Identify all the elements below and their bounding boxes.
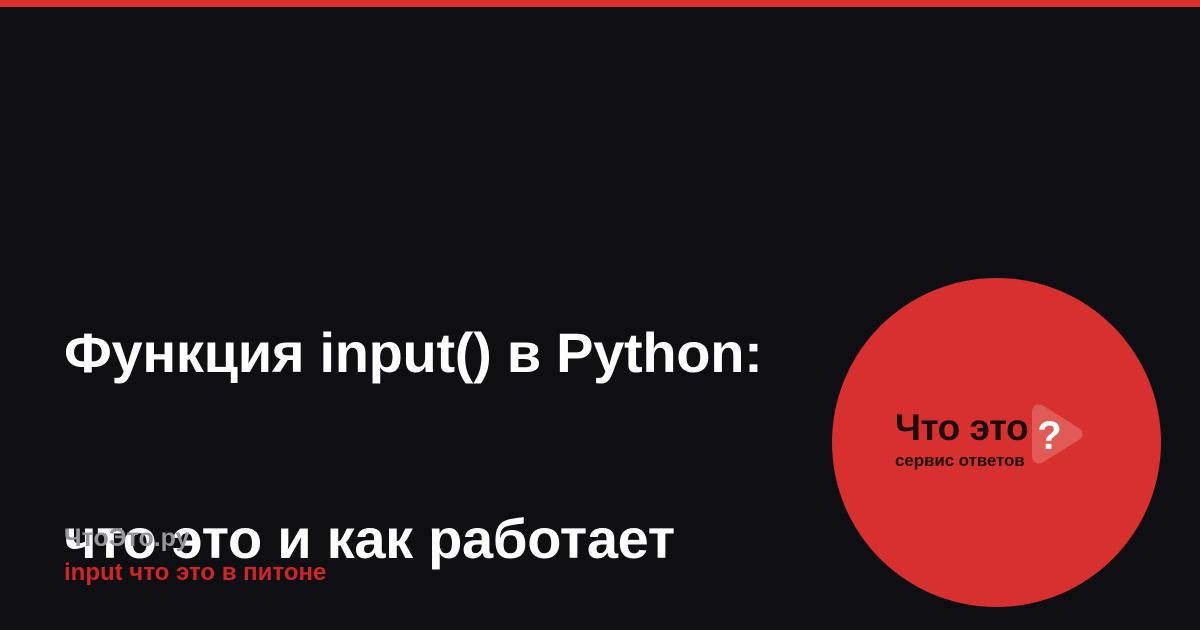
social-preview-card: Функция input() в Python: что это и как …: [0, 0, 1200, 630]
logo-subtitle: сервис ответов: [895, 452, 1025, 470]
page-title-line-1: Функция input() в Python:: [64, 322, 844, 384]
logo-wordmark: Что это сервис ответов: [895, 406, 1028, 470]
logo-circle: Что это сервис ответов ?: [832, 278, 1161, 607]
site-name: ЧтоЭто.ру: [64, 523, 326, 553]
logo-title: Что это: [895, 409, 1028, 446]
search-query-text: input что это в питоне: [64, 559, 326, 587]
logo-lockup: Что это сервис ответов ?: [895, 406, 1105, 486]
top-accent-bar: [0, 0, 1200, 7]
question-mark-icon: ?: [1037, 414, 1067, 458]
brand-block: ЧтоЭто.ру input что это в питоне: [64, 523, 326, 587]
play-triangle-icon: ?: [1024, 402, 1086, 470]
